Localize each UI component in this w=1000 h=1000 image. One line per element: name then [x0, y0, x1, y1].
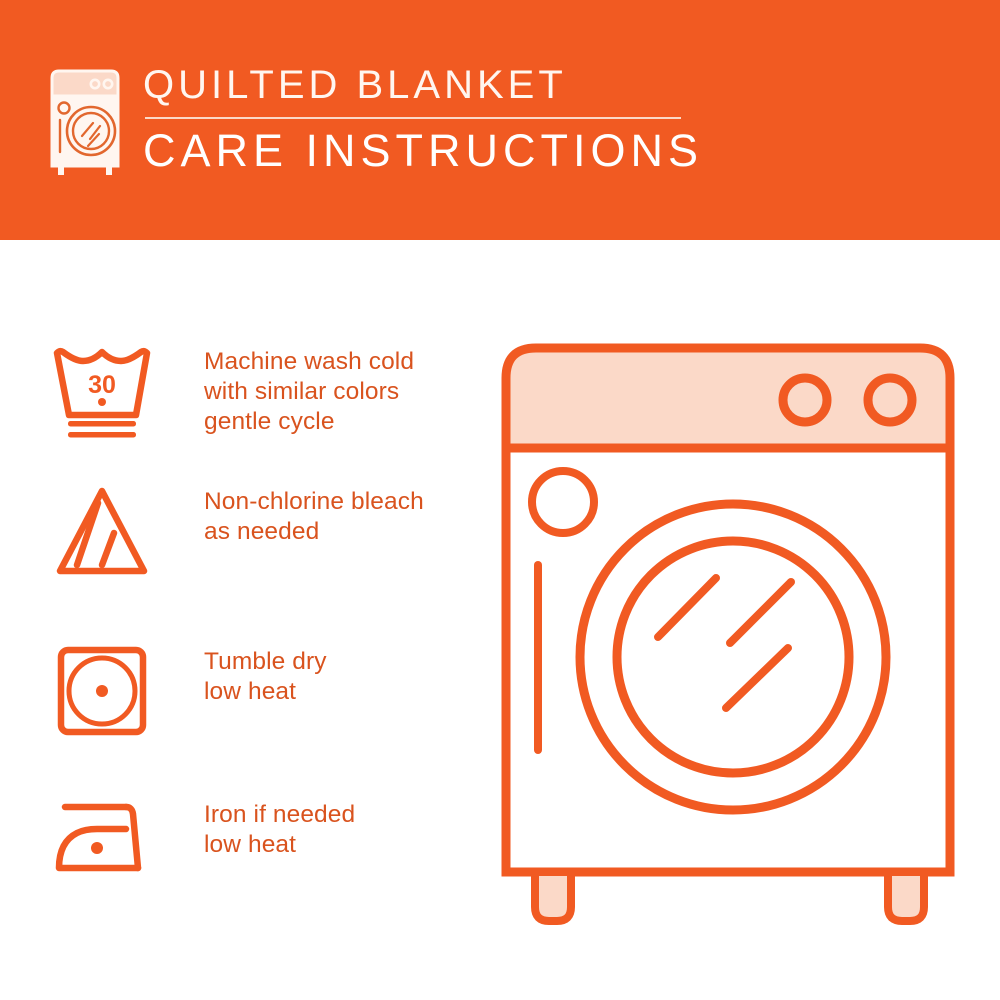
- page-header: QUILTED BLANKET CARE INSTRUCTIONS: [0, 0, 1000, 240]
- care-instruction-list: 30 Machine wash cold with similar colors…: [0, 240, 470, 1000]
- tumble-dry-low-heat-icon: [52, 645, 152, 737]
- care-text-tumble-dry: Tumble dry low heat: [204, 645, 327, 707]
- page-title-sub: CARE INSTRUCTIONS: [143, 125, 743, 177]
- front-load-washing-machine-illustration: [488, 330, 968, 930]
- title-divider: [145, 117, 681, 119]
- care-text-iron: Iron if needed low heat: [204, 798, 355, 860]
- care-row-tumble-dry: Tumble dry low heat: [0, 645, 470, 737]
- iron-low-heat-icon: [52, 798, 152, 878]
- svg-text:30: 30: [88, 371, 116, 399]
- header-title-block: QUILTED BLANKET CARE INSTRUCTIONS: [143, 62, 743, 177]
- washing-machine-icon: [48, 68, 122, 178]
- care-row-wash: 30 Machine wash cold with similar colors…: [0, 345, 470, 443]
- care-text-wash: Machine wash cold with similar colors ge…: [204, 345, 414, 437]
- care-instructions-page: QUILTED BLANKET CARE INSTRUCTIONS 30: [0, 0, 1000, 1000]
- page-title-main: QUILTED BLANKET: [143, 62, 743, 108]
- wash-tub-30-gentle-icon: 30: [52, 345, 152, 443]
- care-row-iron: Iron if needed low heat: [0, 798, 470, 878]
- care-row-bleach: Non-chlorine bleach as needed: [0, 485, 470, 579]
- non-chlorine-bleach-triangle-icon: [52, 485, 152, 579]
- care-text-bleach: Non-chlorine bleach as needed: [204, 485, 424, 547]
